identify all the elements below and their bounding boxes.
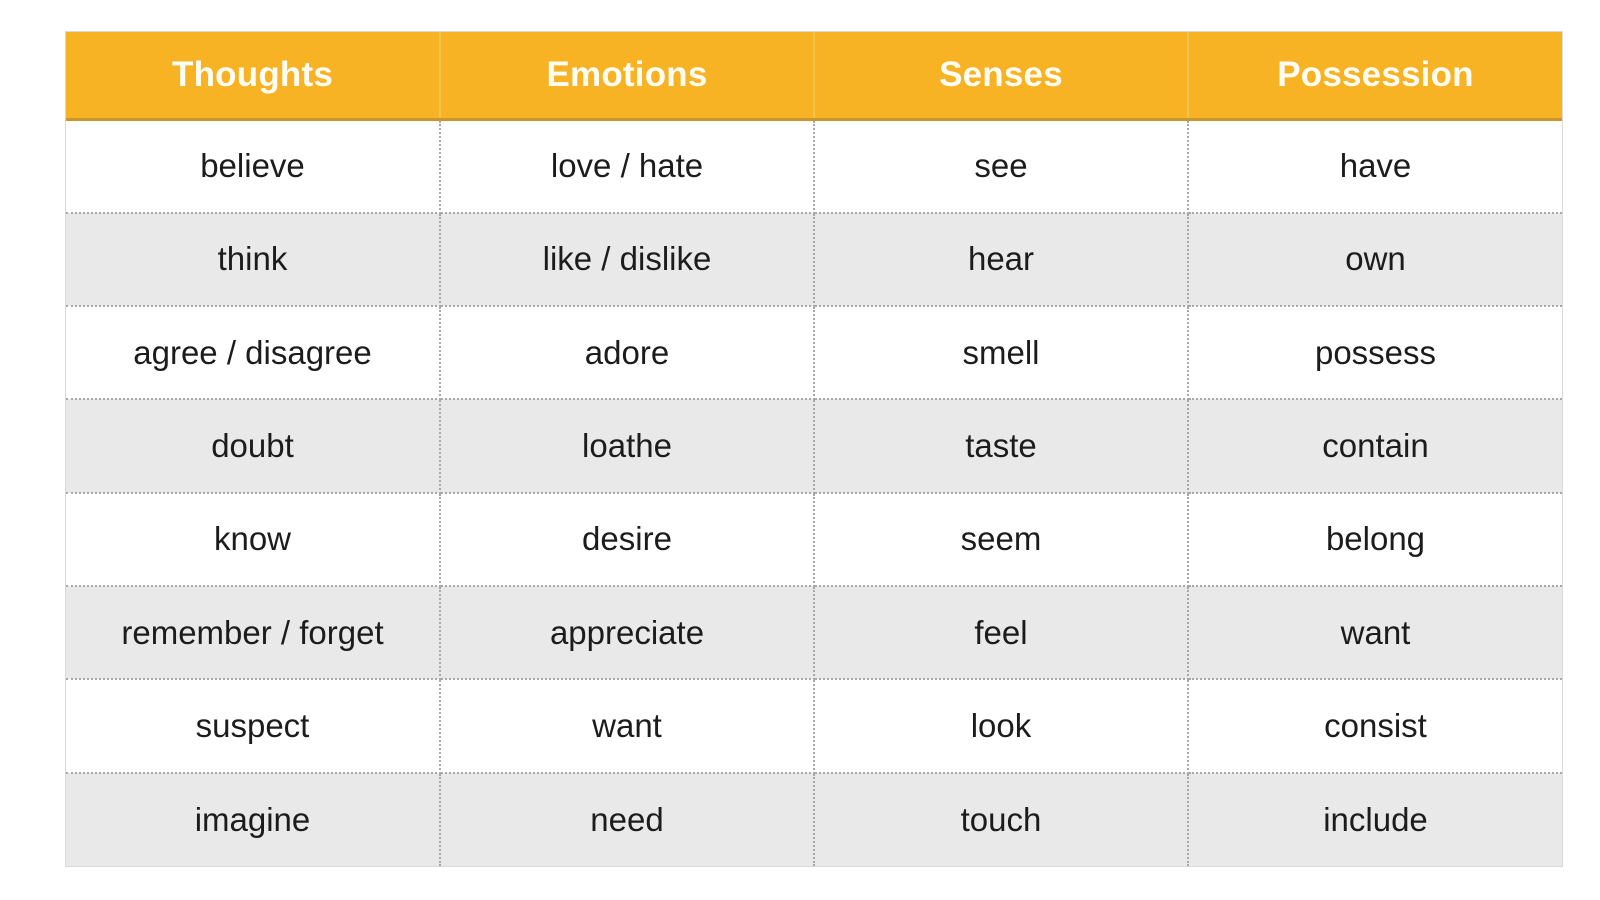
cell-emotions: adore [440,306,814,399]
cell-thoughts: know [66,493,440,586]
cell-senses: touch [814,773,1188,866]
cell-thoughts: think [66,213,440,306]
page-canvas: Thoughts Emotions Senses Possession beli… [0,0,1600,900]
cell-emotions: need [440,773,814,866]
cell-thoughts: agree / disagree [66,306,440,399]
cell-senses: hear [814,213,1188,306]
verb-table-container: Thoughts Emotions Senses Possession beli… [66,32,1562,866]
cell-possession: contain [1188,399,1562,492]
cell-emotions: desire [440,493,814,586]
cell-emotions: like / dislike [440,213,814,306]
cell-thoughts: suspect [66,679,440,772]
cell-emotions: loathe [440,399,814,492]
table-body: believe love / hate see have think like … [66,120,1562,867]
cell-senses: see [814,120,1188,213]
table-row: imagine need touch include [66,773,1562,866]
cell-thoughts: doubt [66,399,440,492]
cell-possession: have [1188,120,1562,213]
table-row: know desire seem belong [66,493,1562,586]
cell-possession: own [1188,213,1562,306]
table-row: believe love / hate see have [66,120,1562,213]
cell-thoughts: remember / forget [66,586,440,679]
column-header-emotions[interactable]: Emotions [440,32,814,120]
column-header-possession[interactable]: Possession [1188,32,1562,120]
cell-possession: belong [1188,493,1562,586]
cell-thoughts: imagine [66,773,440,866]
cell-senses: look [814,679,1188,772]
table-header: Thoughts Emotions Senses Possession [66,32,1562,120]
cell-thoughts: believe [66,120,440,213]
cell-senses: seem [814,493,1188,586]
cell-emotions: want [440,679,814,772]
table-row: remember / forget appreciate feel want [66,586,1562,679]
cell-possession: include [1188,773,1562,866]
cell-senses: smell [814,306,1188,399]
table-row: agree / disagree adore smell possess [66,306,1562,399]
cell-possession: consist [1188,679,1562,772]
table-row: think like / dislike hear own [66,213,1562,306]
cell-emotions: appreciate [440,586,814,679]
cell-senses: feel [814,586,1188,679]
cell-possession: possess [1188,306,1562,399]
table-row: doubt loathe taste contain [66,399,1562,492]
header-row: Thoughts Emotions Senses Possession [66,32,1562,120]
cell-possession: want [1188,586,1562,679]
verb-table: Thoughts Emotions Senses Possession beli… [66,32,1562,866]
cell-emotions: love / hate [440,120,814,213]
table-row: suspect want look consist [66,679,1562,772]
column-header-senses[interactable]: Senses [814,32,1188,120]
column-header-thoughts[interactable]: Thoughts [66,32,440,120]
cell-senses: taste [814,399,1188,492]
